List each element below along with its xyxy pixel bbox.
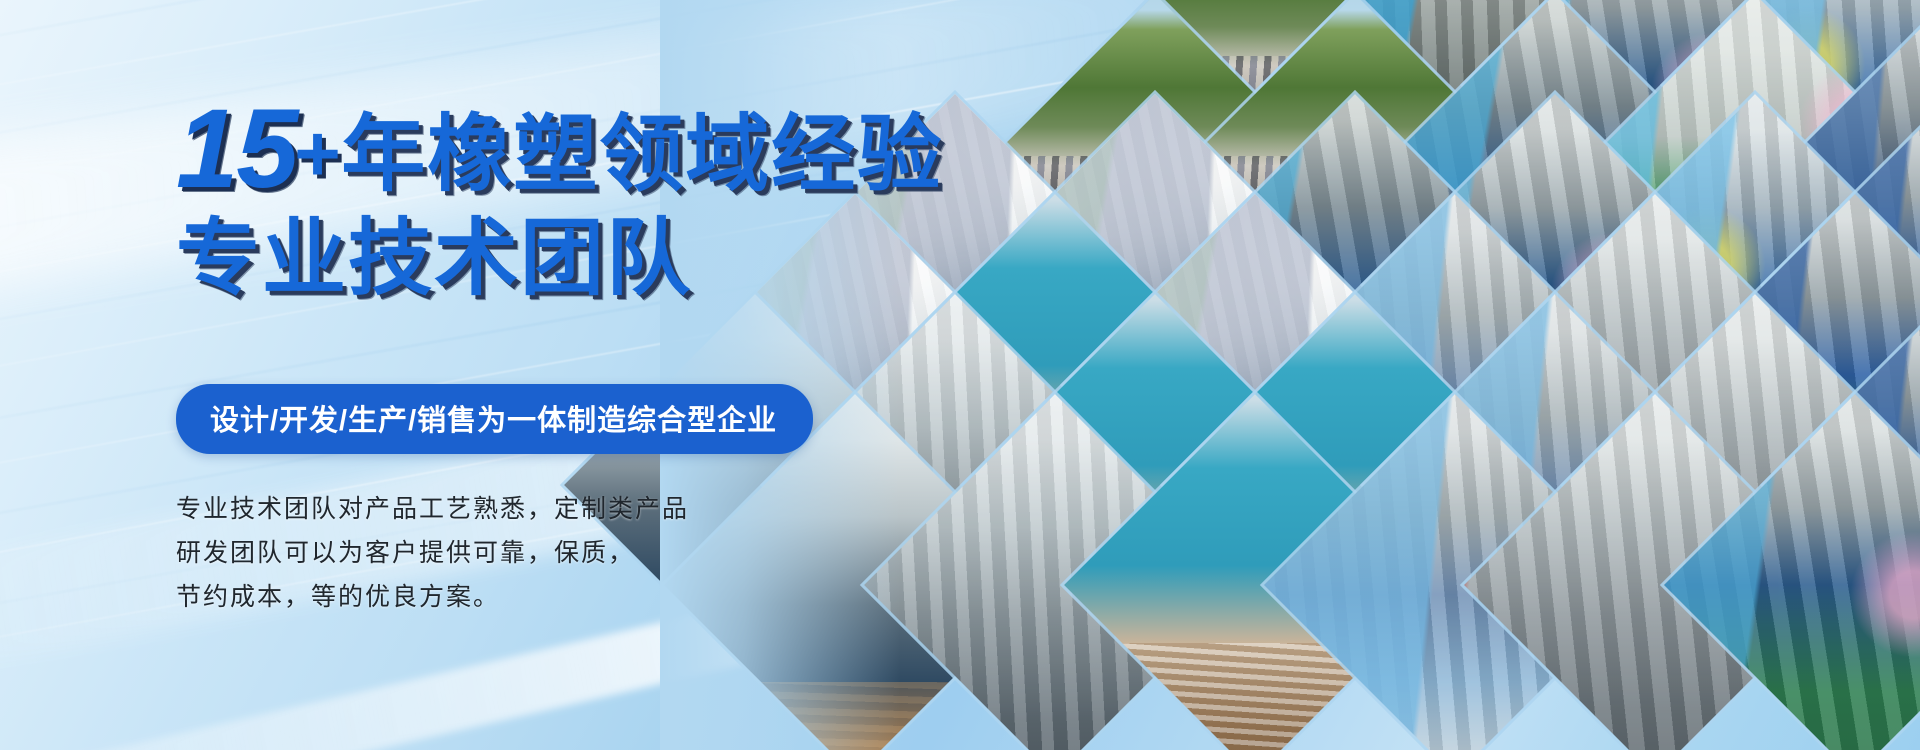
promo-banner: 15+年橡塑领域经验 专业技术团队 设计/开发/生产/销售为一体制造综合型企业 … [0,0,1920,750]
headline-line1: 年橡塑领域经验 [341,107,943,201]
banner-text-content: 15+年橡塑领域经验 专业技术团队 设计/开发/生产/销售为一体制造综合型企业 … [0,0,760,750]
tagline-pill-badge: 设计/开发/生产/销售为一体制造综合型企业 [176,384,813,454]
headline-number: 15 [176,86,297,211]
description-line-2: 研发团队可以为客户提供可靠，保质， [176,531,689,575]
description-line-1: 专业技术团队对产品工艺熟悉，定制类产品 [176,487,689,531]
headline-plus-sign: + [293,109,340,198]
headline: 15+年橡塑领域经验 专业技术团队 [176,92,936,302]
headline-line2: 专业技术团队 [176,211,692,305]
description-line-3: 节约成本，等的优良方案。 [176,575,689,619]
description-paragraph: 专业技术团队对产品工艺熟悉，定制类产品 研发团队可以为客户提供可靠，保质， 节约… [176,487,689,619]
